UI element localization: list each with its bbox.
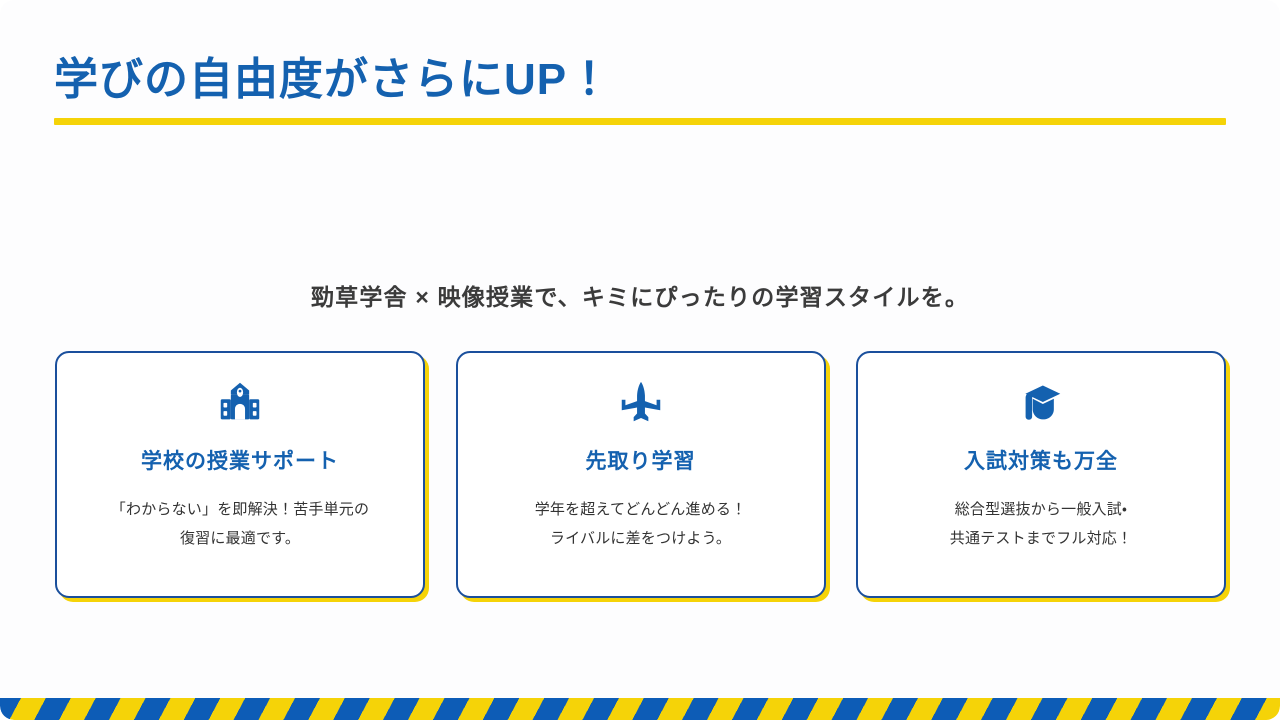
feature-card[interactable]: 入試対策も万全 総合型選抜から一般入試・ 共通テストまでフル対応！ (856, 351, 1226, 598)
title-underline-rule (54, 118, 1226, 125)
card-body-line: 復習に最適です。 (75, 524, 405, 553)
slide-root: 学びの自由度がさらにUP！ 勁草学舎 × 映像授業で、キミにぴったりの学習スタイ… (0, 0, 1280, 720)
feature-card-list: 学校の授業サポート 「わからない」を即解決！苦手単元の 復習に最適です。 先取り… (55, 351, 1226, 598)
graduation-cap-icon (1018, 379, 1064, 425)
card-body: 総合型選抜から一般入試・ 共通テストまでフル対応！ (876, 495, 1206, 554)
page-title: 学びの自由度がさらにUP！ (54, 54, 1226, 106)
card-surface[interactable]: 学校の授業サポート 「わからない」を即解決！苦手単元の 復習に最適です。 (55, 351, 425, 598)
card-title: 学校の授業サポート (141, 445, 339, 475)
subtitle: 勁草学舎 × 映像授業で、キミにぴったりの学習スタイルを。 (0, 278, 1280, 312)
card-body-line: 学年を超えてどんどん進める！ (476, 495, 806, 524)
card-surface[interactable]: 入試対策も万全 総合型選抜から一般入試・ 共通テストまでフル対応！ (856, 351, 1226, 598)
card-body-line: 総合型選抜から一般入試・ (876, 495, 1206, 524)
card-title: 先取り学習 (586, 445, 696, 475)
card-body: 学年を超えてどんどん進める！ ライバルに差をつけよう。 (476, 495, 806, 554)
feature-card[interactable]: 学校の授業サポート 「わからない」を即解決！苦手単元の 復習に最適です。 (55, 351, 425, 598)
title-block: 学びの自由度がさらにUP！ (54, 54, 1226, 125)
card-body-line: 「わからない」を即解決！苦手単元の (75, 495, 405, 524)
feature-card[interactable]: 先取り学習 学年を超えてどんどん進める！ ライバルに差をつけよう。 (456, 351, 826, 598)
card-title: 入試対策も万全 (964, 445, 1118, 475)
card-body: 「わからない」を即解決！苦手単元の 復習に最適です。 (75, 495, 405, 554)
card-surface[interactable]: 先取り学習 学年を超えてどんどん進める！ ライバルに差をつけよう。 (456, 351, 826, 598)
card-body-line: ライバルに差をつけよう。 (476, 524, 806, 553)
fighter-jet-icon (618, 379, 664, 425)
footer-stripe-band (0, 698, 1280, 720)
card-body-line: 共通テストまでフル対応！ (876, 524, 1206, 553)
school-building-icon (217, 379, 263, 425)
